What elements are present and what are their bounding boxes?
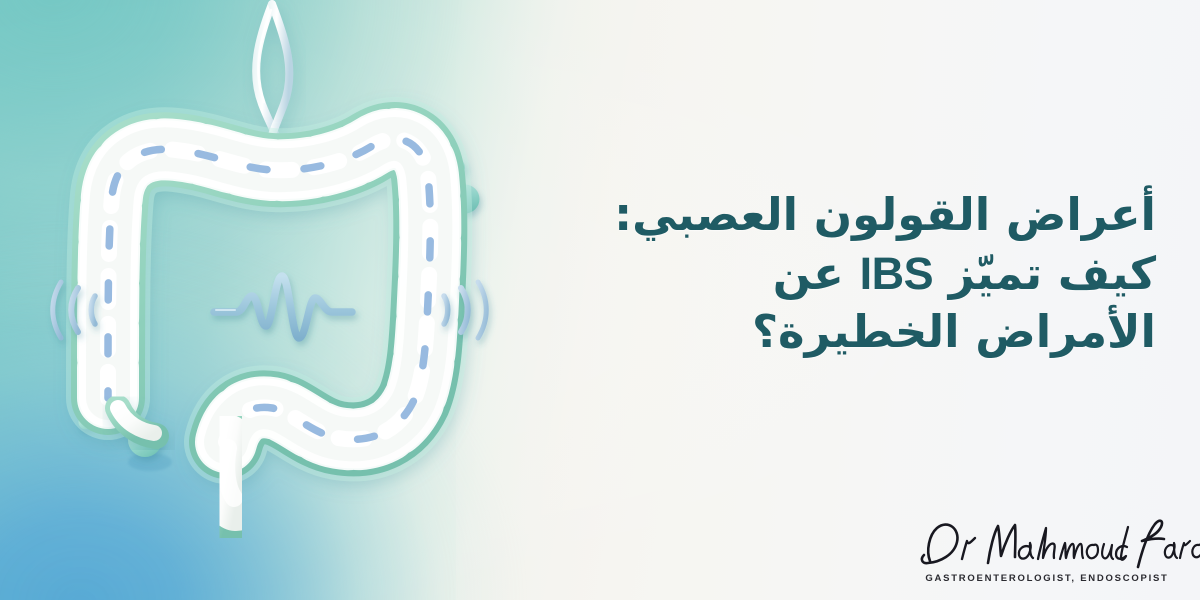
headline-line-2-pre: كيف تميّز [933,247,1156,300]
pulse-waveform [214,276,352,338]
headline-line-2-post: عن [773,247,860,300]
headline-ibs-term: IBS [860,248,934,299]
signature-name [912,515,1182,571]
headline: أعراض القولون العصبي: كيف تميّز IBS عن ا… [556,186,1156,362]
headline-line-3: الأمراض الخطيرة؟ [556,303,1156,362]
headline-line-2: كيف تميّز IBS عن [556,245,1156,304]
rectum-tail [224,442,236,506]
ibs-banner: أعراض القولون العصبي: كيف تميّز IBS عن ا… [0,0,1200,600]
colon-body [108,139,430,442]
colon-illustration [0,0,560,600]
signature-role: GASTROENTEROLOGIST, ENDOSCOPIST [912,573,1182,584]
signature-block: GASTROENTEROLOGIST, ENDOSCOPIST [912,515,1182,584]
headline-line-1: أعراض القولون العصبي: [556,186,1156,245]
